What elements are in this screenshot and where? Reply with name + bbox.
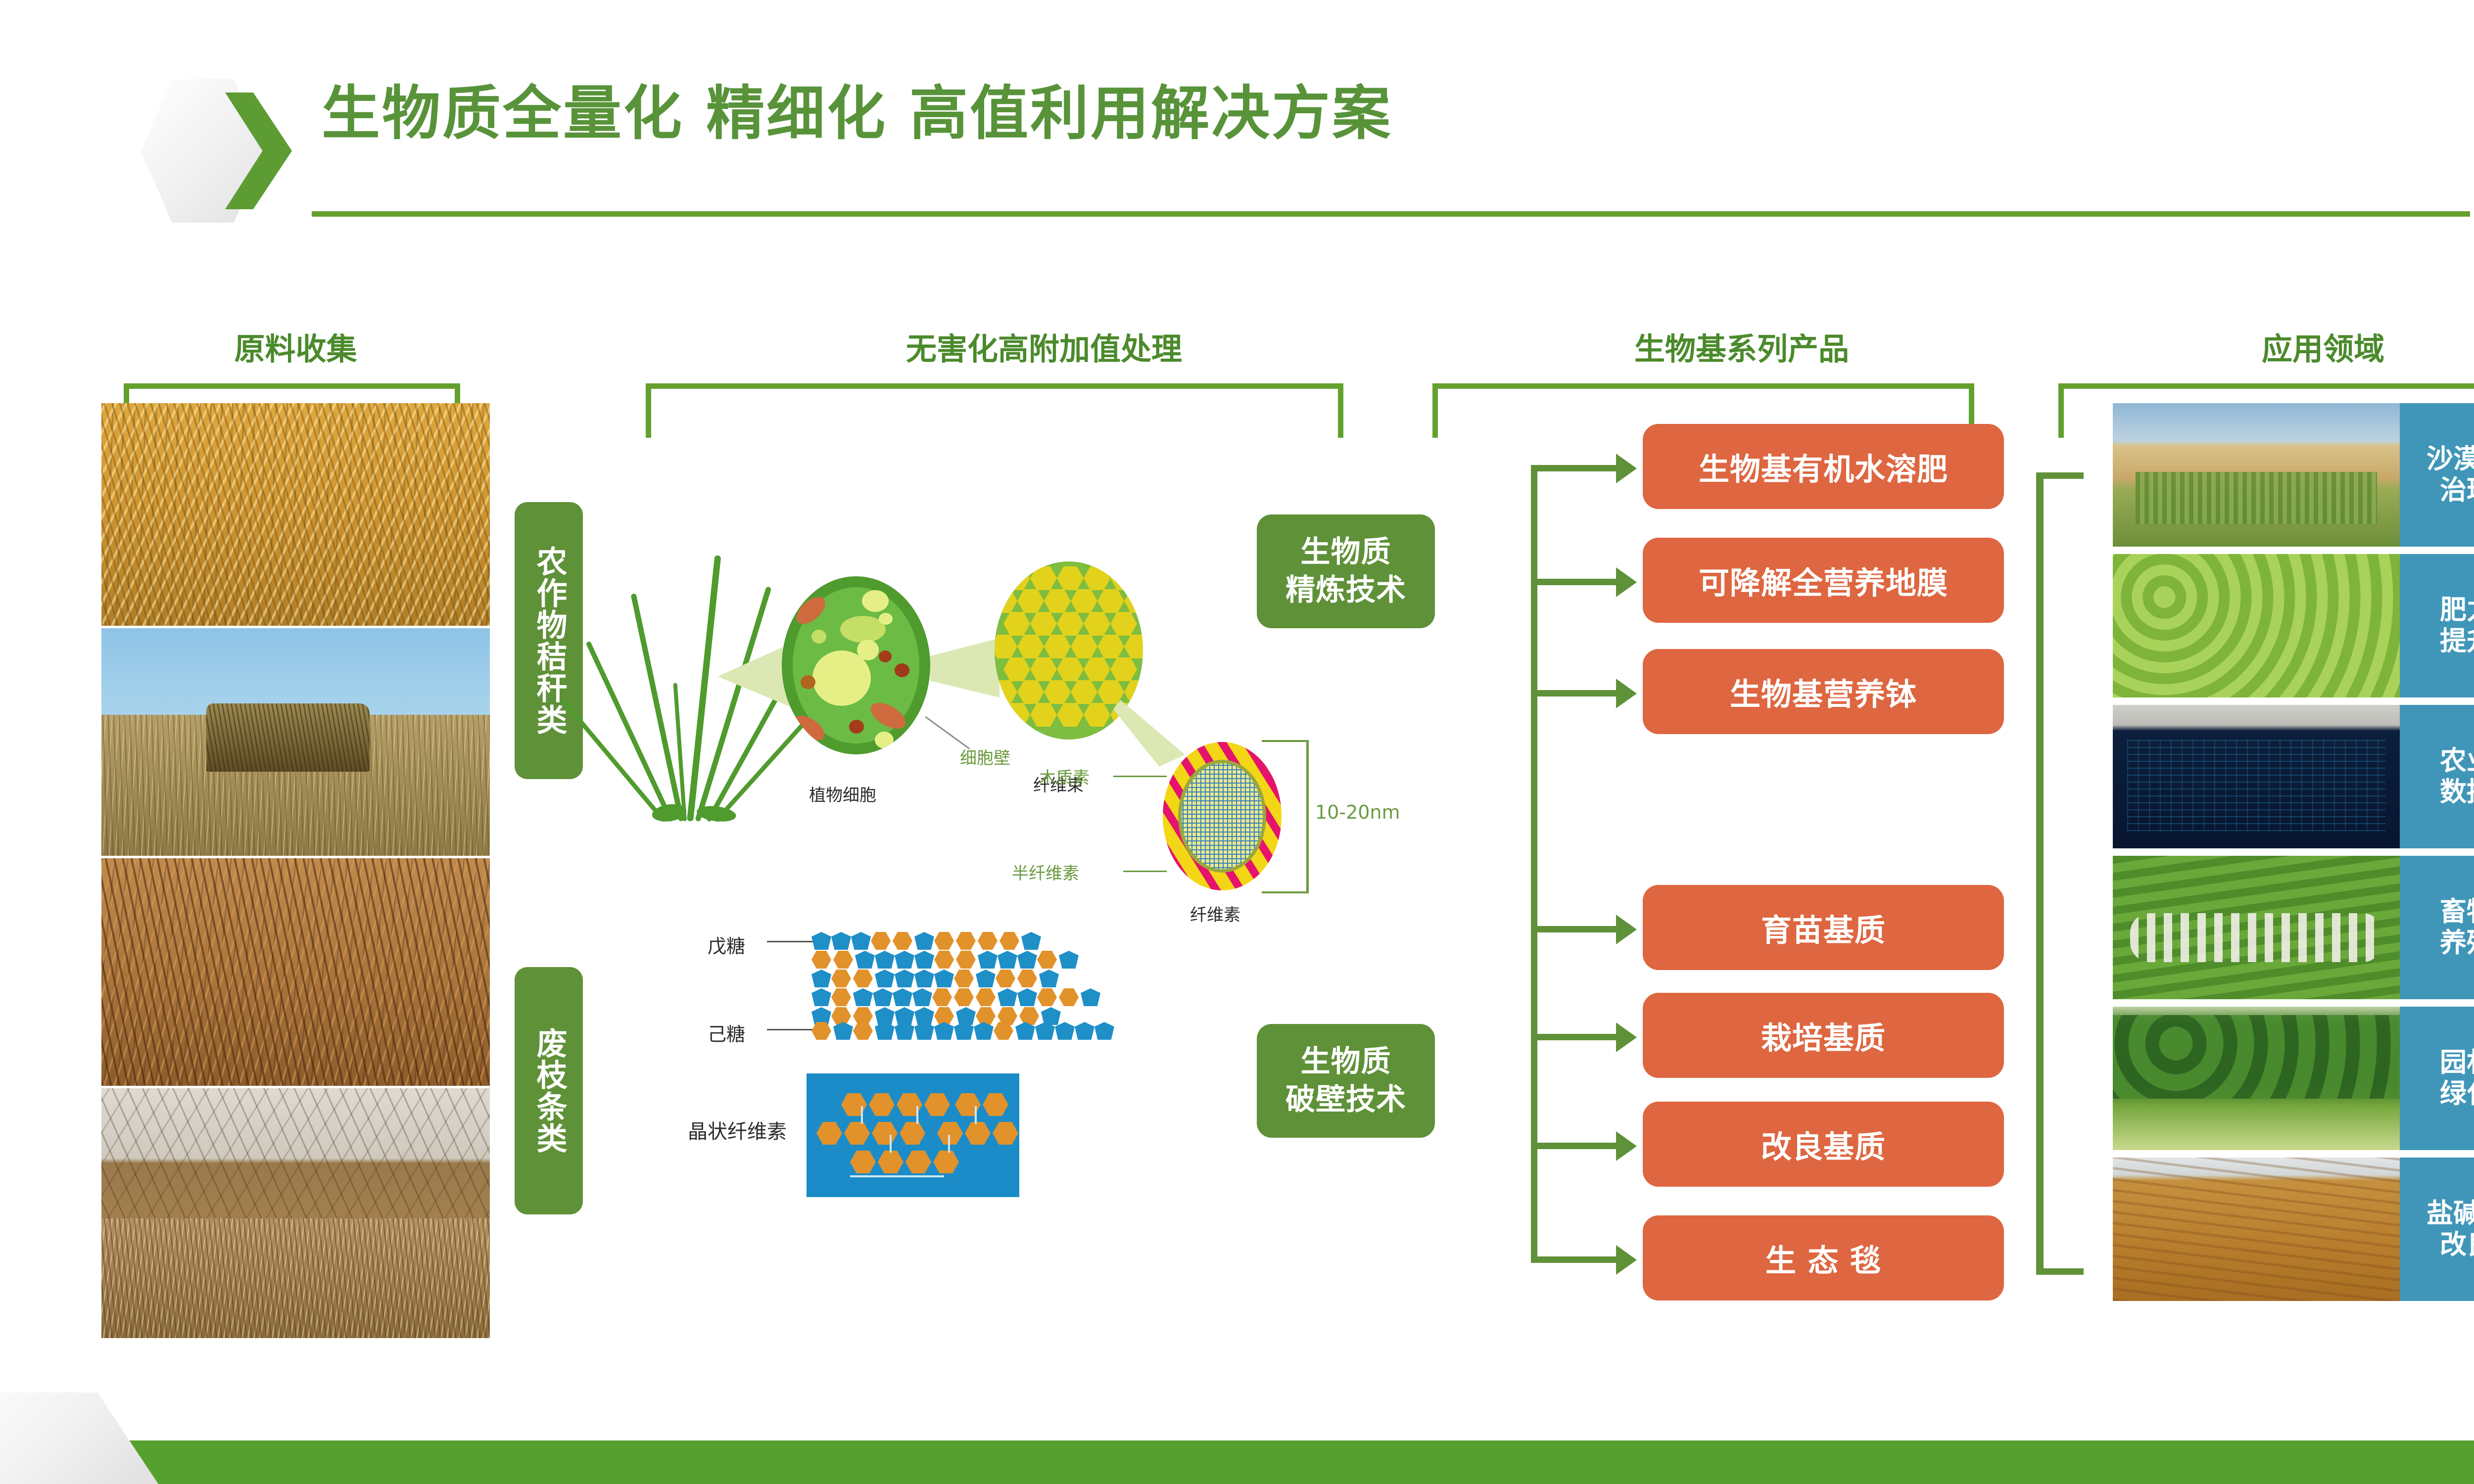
tag-waste-branch-category: 废枝条类	[515, 967, 583, 1214]
caption-landscape-line1: 园林	[2440, 1047, 2474, 1078]
arrow-wall-3	[1616, 1131, 1637, 1161]
stage-header-bio-based-products: 生物基系列产品	[1470, 324, 2014, 369]
hexose-unit	[831, 988, 851, 1006]
hexose-unit	[831, 970, 851, 987]
arrow-refining-1	[1616, 454, 1637, 483]
hexose-unit	[1037, 951, 1057, 969]
hexose-unit	[934, 932, 954, 950]
flow-branch-wall-3	[1531, 1143, 1620, 1149]
flow-branch-refining-3	[1531, 690, 1620, 696]
pentose-unit	[974, 1022, 994, 1040]
hexose-unit	[811, 951, 831, 969]
flow-branch-wall-2	[1531, 1034, 1620, 1040]
caption-livestock: 畜牧 养殖	[2400, 856, 2474, 999]
label-plant-cell: 植物细胞	[809, 782, 876, 806]
caption-agridata-line2: 数据	[2440, 776, 2474, 807]
pentose-unit	[875, 951, 895, 969]
flow-branch-refining-2	[1531, 579, 1620, 585]
application-row-soil-fertility: 肥力 提升	[2113, 554, 2474, 697]
hexose-unit	[932, 988, 952, 1006]
caption-landscape-line2: 绿化	[2440, 1078, 2474, 1109]
pentose-unit	[914, 1022, 934, 1040]
hexose-unit	[994, 1022, 1013, 1040]
image-agri-data-dashboard	[2113, 705, 2400, 848]
magnify-cone-2	[930, 638, 999, 697]
bracket-applications-group	[2036, 472, 2084, 1275]
page-header: 生物质全量化 精细化 高值利用解决方案	[0, 0, 2474, 232]
caption-saline-line2: 改良	[2440, 1229, 2474, 1260]
cellulose-fiber-cross-section	[1163, 742, 1282, 890]
image-soil-fertility	[2113, 554, 2400, 697]
hexose-unit	[976, 988, 996, 1006]
label-hexose: 己糖	[708, 1019, 745, 1046]
hexose-unit	[1037, 988, 1057, 1006]
pentose-unit	[1039, 970, 1059, 987]
sugar-chain-diagram: 戊糖 己糖	[693, 920, 1128, 1054]
pentose-unit	[1059, 951, 1079, 969]
application-row-landscape-greening: 园林 绿化	[2113, 1007, 2474, 1150]
pentose-unit	[954, 1022, 974, 1040]
pentose-unit	[914, 932, 934, 950]
label-hemicellulose: 半纤维素	[1012, 860, 1079, 884]
flow-branch-refining-1	[1531, 465, 1620, 471]
stage-header-harmless-processing: 无害化高附加值处理	[618, 324, 1470, 369]
pentose-unit	[1055, 1022, 1075, 1040]
pentose-unit	[1015, 1022, 1035, 1040]
hexose-unit	[956, 951, 976, 969]
caption-livestock-line1: 畜牧	[2440, 896, 2474, 927]
arrow-refining-3	[1616, 679, 1637, 708]
tech-box-biomass-refining: 生物质 精炼技术	[1257, 514, 1435, 628]
hexagon-logo-decoration	[141, 79, 299, 223]
pentose-unit	[912, 988, 932, 1006]
hexose-unit	[833, 951, 853, 969]
flow-branch-wall-4	[1531, 1256, 1620, 1263]
tech-refining-line2: 精炼技术	[1285, 573, 1406, 607]
application-fields-column: 沙漠化 治理 肥力 提升 农业 数据 畜牧 养殖 园林 绿化	[2113, 403, 2474, 1338]
hexose-unit	[954, 970, 974, 987]
bracket-harmless-processing	[646, 383, 1343, 438]
image-saline-land	[2113, 1158, 2400, 1301]
hexose-unit	[954, 988, 974, 1006]
pentose-unit	[811, 932, 831, 950]
product-cultivation-substrate: 栽培基质	[1643, 993, 2004, 1078]
pentose-unit	[875, 970, 895, 987]
pentose-unit	[875, 1022, 895, 1040]
caption-saline-line1: 盐碱地	[2426, 1198, 2474, 1229]
label-lignin: 木质素	[1039, 764, 1090, 788]
tech-refining-line1: 生物质	[1301, 535, 1391, 569]
product-improvement-substrate: 改良基质	[1643, 1102, 2004, 1187]
photo-corn-stalk-field	[101, 403, 490, 626]
pentose-unit	[833, 1022, 853, 1040]
hexose-unit	[893, 932, 912, 950]
caption-desert-line1: 沙漠化	[2426, 443, 2474, 474]
pentose-unit	[978, 951, 998, 969]
label-cellulose: 纤维素	[1190, 901, 1240, 926]
pentose-unit	[914, 970, 934, 987]
application-row-desert-control: 沙漠化 治理	[2113, 403, 2474, 547]
pentose-unit	[895, 951, 914, 969]
caption-landscape-greening: 园林 绿化	[2400, 1007, 2474, 1150]
caption-fertility-line2: 提升	[2440, 625, 2474, 656]
pentose-unit	[851, 932, 871, 950]
arrow-wall-2	[1616, 1022, 1637, 1052]
product-degradable-nutrient-mulch-film: 可降解全营养地膜	[1643, 538, 2004, 623]
product-seedling-substrate: 育苗基质	[1643, 885, 2004, 970]
pentose-unit	[1081, 988, 1100, 1006]
product-bio-based-nutrient-pot: 生物基营养钵	[1643, 649, 2004, 734]
label-pentose: 戊糖	[708, 931, 745, 958]
pentose-unit	[1035, 1022, 1055, 1040]
hexose-unit	[1017, 970, 1037, 987]
image-livestock-grazing	[2113, 856, 2400, 999]
page-title: 生物质全量化 精细化 高值利用解决方案	[322, 84, 1392, 142]
pentose-unit	[914, 951, 934, 969]
pentose-unit	[893, 988, 912, 1006]
label-crystalline-cellulose: 晶状纤维素	[688, 1115, 787, 1144]
caption-livestock-line2: 养殖	[2440, 927, 2474, 958]
arrow-wall-1	[1616, 915, 1637, 944]
pentose-unit	[1075, 1022, 1094, 1040]
pentose-unit	[853, 988, 873, 1006]
application-row-agri-data: 农业 数据	[2113, 705, 2474, 848]
arrow-wall-4	[1616, 1245, 1637, 1275]
pentose-unit	[934, 970, 954, 987]
pentose-unit	[855, 951, 875, 969]
label-fiber-dimension: 10-20nm	[1315, 801, 1400, 823]
caption-desert-line2: 治理	[2440, 474, 2474, 506]
pentose-unit	[895, 970, 914, 987]
hexose-unit	[996, 970, 1015, 987]
dimension-tick-bottom	[1262, 891, 1309, 893]
flow-spine-refining	[1531, 465, 1537, 970]
caption-soil-fertility: 肥力 提升	[2400, 554, 2474, 697]
application-row-saline-land: 盐碱地 改良	[2113, 1158, 2474, 1301]
stage-header-application-fields: 应用领域	[2113, 324, 2474, 369]
pentose-unit	[1017, 988, 1037, 1006]
raw-material-photo-column	[101, 403, 490, 1338]
title-underline-divider	[312, 211, 2470, 217]
label-cell-wall: 细胞壁	[960, 744, 1010, 769]
leader-line-lignin	[1113, 776, 1167, 777]
image-desert-control	[2113, 403, 2400, 547]
product-ecological-blanket: 生 态 毯	[1643, 1215, 2004, 1300]
footer-hexagon-decoration	[0, 1392, 158, 1484]
pentose-unit	[998, 951, 1017, 969]
leader-line-pentose	[767, 941, 816, 942]
pentose-unit	[1094, 1022, 1114, 1040]
hexose-unit	[853, 1022, 873, 1040]
stage-header-raw-material-collection: 原料收集	[101, 324, 490, 369]
tech-wall-breaking-line1: 生物质	[1301, 1044, 1391, 1079]
dimension-line-vertical	[1306, 740, 1309, 893]
hexose-unit	[999, 932, 1019, 950]
pentose-unit	[998, 988, 1017, 1006]
pentose-unit	[1021, 932, 1041, 950]
leader-line-hexose	[767, 1029, 816, 1030]
hexose-unit	[978, 932, 998, 950]
caption-desert-control: 沙漠化 治理	[2400, 403, 2474, 547]
hexose-unit	[811, 1022, 831, 1040]
hexose-unit	[934, 951, 954, 969]
application-row-livestock: 畜牧 养殖	[2113, 856, 2474, 999]
hexose-unit	[1059, 988, 1079, 1006]
flow-spine-wall-breaking	[1531, 926, 1537, 1262]
arrow-refining-2	[1616, 567, 1637, 597]
leader-line-hemicellulose	[1123, 871, 1167, 872]
tech-wall-breaking-line2: 破壁技术	[1285, 1082, 1406, 1117]
pentose-unit	[811, 970, 831, 987]
footer-green-bar	[0, 1440, 2474, 1484]
photo-dry-branches	[101, 858, 490, 1086]
dimension-tick-top	[1262, 740, 1309, 742]
hexose-unit	[871, 932, 891, 950]
hexose-unit	[956, 932, 976, 950]
plant-cell-illustration	[782, 576, 930, 754]
pentose-unit	[895, 1022, 914, 1040]
flow-branch-wall-1	[1531, 926, 1620, 932]
pentose-unit	[811, 988, 831, 1006]
crystalline-cellulose-illustration	[807, 1073, 1019, 1197]
caption-agridata-line1: 农业	[2440, 745, 2474, 776]
tech-box-biomass-wall-breaking: 生物质 破壁技术	[1257, 1024, 1435, 1138]
product-bio-organic-water-soluble-fertilizer: 生物基有机水溶肥	[1643, 424, 2004, 509]
pentose-unit	[1017, 951, 1037, 969]
pentose-unit	[873, 988, 893, 1006]
caption-fertility-line1: 肥力	[2440, 594, 2474, 625]
pentose-unit	[976, 970, 996, 987]
photo-straw-bale-field	[101, 628, 490, 856]
pentose-unit	[831, 932, 851, 950]
tag-crop-straw-category: 农作物秸秆类	[515, 502, 583, 779]
pentose-unit	[934, 1022, 954, 1040]
image-landscape-greening	[2113, 1007, 2400, 1150]
caption-agri-data: 农业 数据	[2400, 705, 2474, 848]
hexose-unit	[853, 970, 873, 987]
photo-orchard-pruning	[101, 1088, 490, 1338]
caption-saline-land: 盐碱地 改良	[2400, 1158, 2474, 1301]
